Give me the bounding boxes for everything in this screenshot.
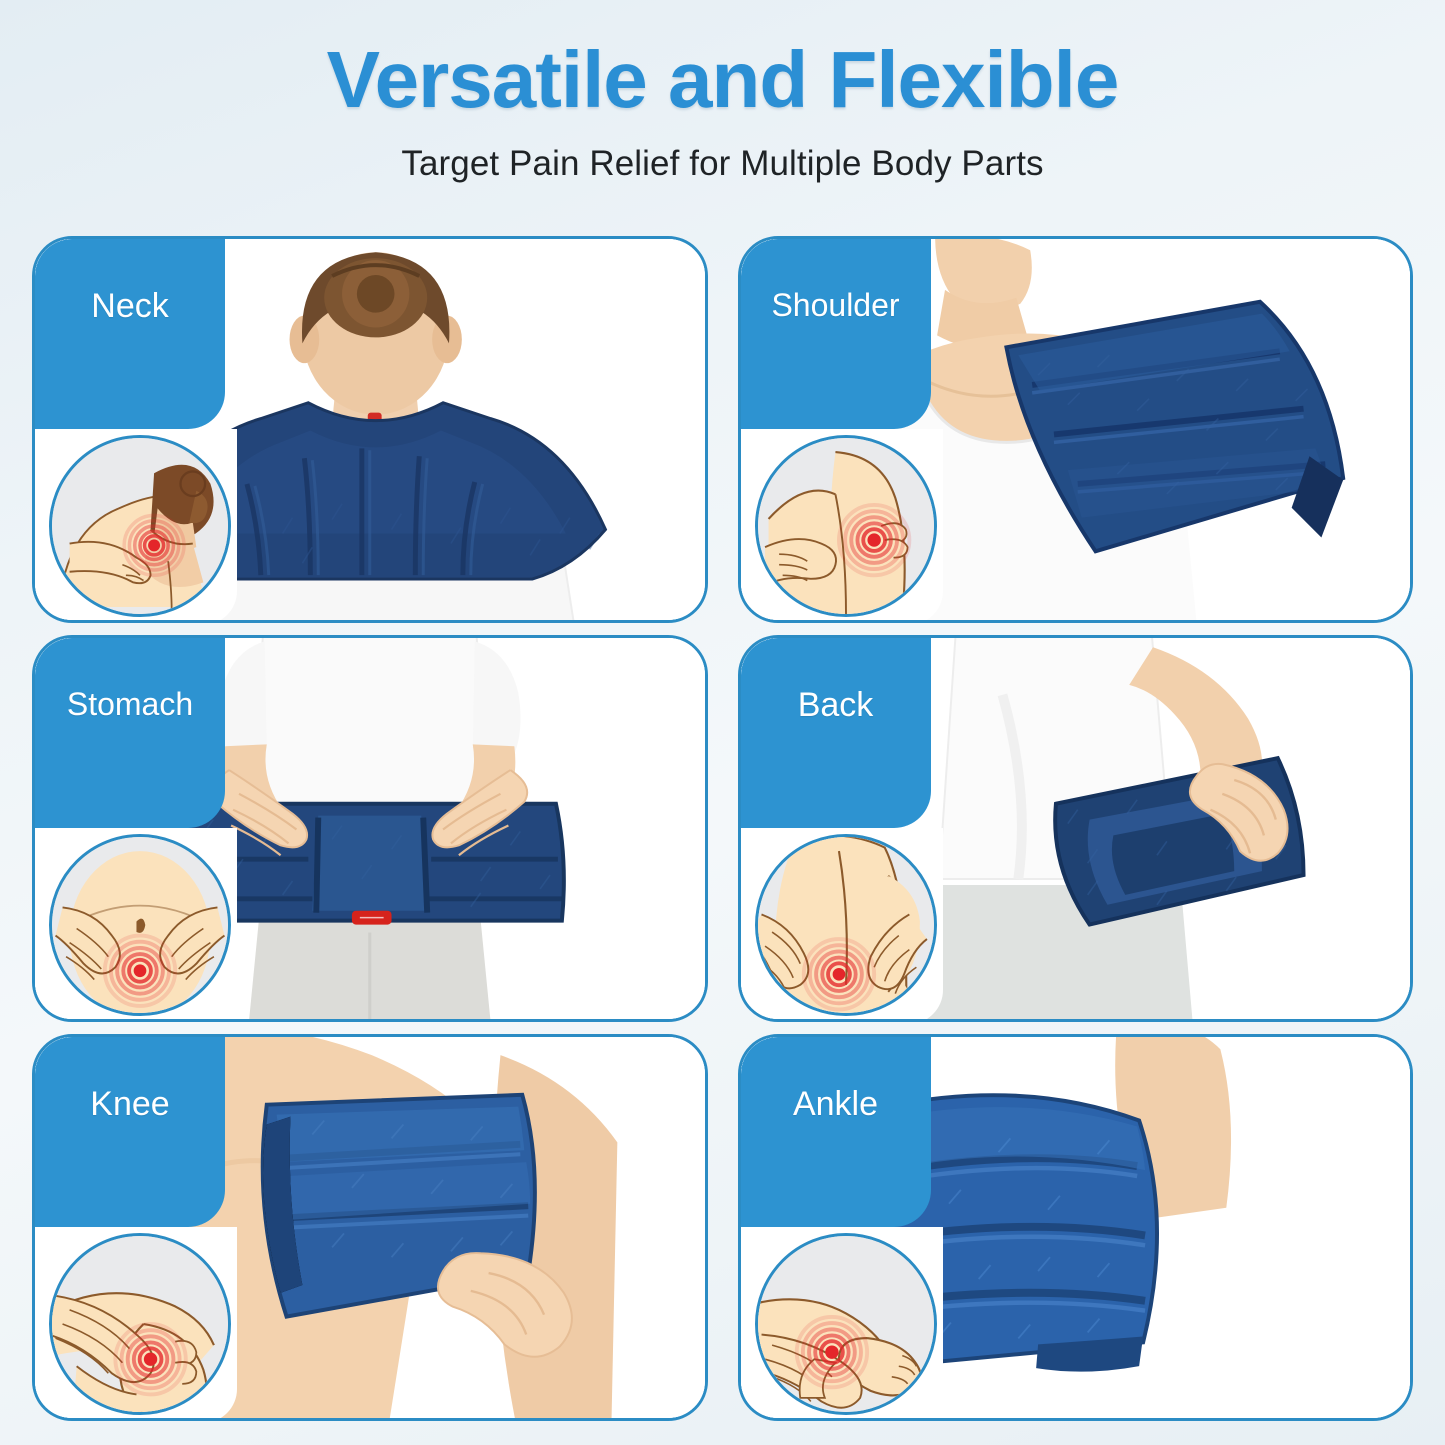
back-pain-icon (755, 834, 937, 1016)
card-label-panel-ankle: Ankle (741, 1037, 931, 1227)
neck-pain-icon (49, 435, 231, 617)
card-label-panel-neck: Neck (35, 239, 225, 429)
body-part-card-stomach[interactable]: Stomach (32, 635, 708, 1022)
body-part-card-ankle[interactable]: Ankle (738, 1034, 1414, 1421)
body-part-card-neck[interactable]: Neck (32, 236, 708, 623)
shoulder-pain-icon (755, 435, 937, 617)
body-part-card-grid: Neck (32, 236, 1413, 1421)
body-part-card-shoulder[interactable]: Shoulder (738, 236, 1414, 623)
card-label-back: Back (798, 686, 874, 725)
card-label-knee: Knee (90, 1085, 169, 1124)
card-label-stomach: Stomach (67, 686, 193, 723)
card-label-neck: Neck (91, 287, 168, 326)
card-label-panel-back: Back (741, 638, 931, 828)
ankle-pain-icon (755, 1233, 937, 1415)
body-part-card-knee[interactable]: Knee (32, 1034, 708, 1421)
card-label-panel-knee: Knee (35, 1037, 225, 1227)
card-label-ankle: Ankle (793, 1085, 878, 1124)
page-header: Versatile and Flexible Target Pain Relie… (0, 0, 1445, 184)
knee-pain-icon (49, 1233, 231, 1415)
page-title: Versatile and Flexible (0, 38, 1445, 122)
card-label-panel-stomach: Stomach (35, 638, 225, 828)
card-label-panel-shoulder: Shoulder (741, 239, 931, 429)
card-label-shoulder: Shoulder (771, 287, 899, 324)
body-part-card-back[interactable]: Back (738, 635, 1414, 1022)
stomach-pain-icon (49, 834, 231, 1016)
page-subtitle: Target Pain Relief for Multiple Body Par… (0, 144, 1445, 184)
